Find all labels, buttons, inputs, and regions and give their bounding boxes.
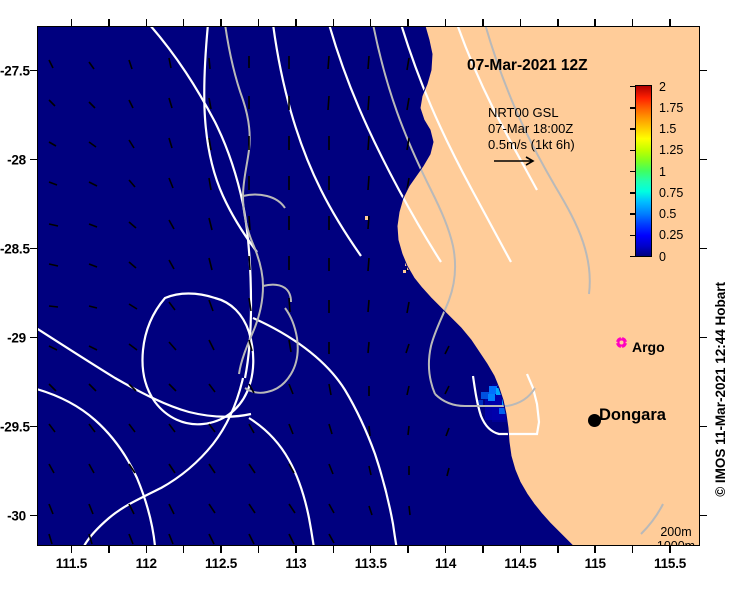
depth-scale-legend: 200m 1000m [647, 525, 700, 546]
x-tick-label: 111.5 [56, 556, 87, 571]
y-tick [30, 248, 37, 250]
x-tick-label: 112 [136, 556, 157, 571]
annotation-line-1: NRT00 GSL [488, 105, 575, 121]
x-tick [482, 546, 484, 553]
colorbar-tick [630, 213, 635, 215]
colorbar-tick-label: 0.75 [659, 186, 683, 200]
x-tick [594, 546, 596, 553]
x-tick [370, 19, 372, 26]
current-reference-annotation: NRT00 GSL 07-Mar 18:00Z 0.5m/s (1kt 6h) [488, 105, 575, 168]
dongara-label: Dongara [599, 406, 666, 425]
x-tick [108, 19, 110, 26]
colorbar-tick [630, 192, 635, 194]
x-tick [108, 546, 110, 553]
colorbar-tick [630, 107, 635, 109]
colorbar-tick-label: 0 [659, 250, 666, 264]
x-tick-label: 114 [435, 556, 456, 571]
colorbar-tick-label: 1.5 [659, 122, 676, 136]
x-tick [557, 19, 559, 26]
x-tick [220, 546, 222, 553]
annotation-line-2: 07-Mar 18:00Z [488, 121, 575, 137]
argo-float-icon [615, 336, 628, 349]
y-tick-label: -28.5 [0, 241, 26, 256]
x-tick-label: 112.5 [205, 556, 237, 571]
copyright-credit: © IMOS 11-Mar-2021 12:44 Hobart [713, 282, 728, 497]
x-tick-label: 115.5 [654, 556, 686, 571]
y-tick [30, 426, 37, 428]
colorbar-gradient [635, 85, 652, 257]
y-tick-label: -30 [0, 508, 26, 523]
y-tick [30, 337, 37, 339]
x-tick [146, 19, 148, 26]
argo-label: Argo [632, 339, 665, 355]
map-date-title: 07-Mar-2021 12Z [467, 57, 588, 75]
y-tick [700, 159, 707, 161]
colorbar-tick [630, 128, 635, 130]
x-tick [370, 546, 372, 553]
x-tick [407, 546, 409, 553]
colorbar-tick-label: 1 [659, 165, 666, 179]
colorbar-tick-label: 2 [659, 80, 666, 94]
scale-label-200m: 200m [647, 525, 700, 539]
x-tick-label: 114.5 [504, 556, 536, 571]
colorbar-tick [630, 256, 635, 258]
x-tick [146, 546, 148, 553]
colorbar-tick [630, 235, 635, 237]
y-tick [700, 337, 707, 339]
map-plot-area: 07-Mar-2021 12Z NRT00 GSL 07-Mar 18:00Z … [37, 26, 700, 546]
x-tick [632, 19, 634, 26]
x-tick [183, 19, 185, 26]
sst-age-map-figure: 07-Mar-2021 12Z NRT00 GSL 07-Mar 18:00Z … [0, 0, 739, 592]
x-tick [183, 546, 185, 553]
colorbar-tick [630, 171, 635, 173]
x-tick [632, 546, 634, 553]
y-tick [700, 248, 707, 250]
x-tick [220, 19, 222, 26]
x-tick [594, 19, 596, 26]
x-tick [333, 19, 335, 26]
y-tick [30, 159, 37, 161]
x-tick [520, 546, 522, 553]
colorbar-tick-label: 0.5 [659, 207, 676, 221]
x-tick [445, 546, 447, 553]
y-tick [700, 515, 707, 517]
x-tick [295, 19, 297, 26]
x-tick [445, 19, 447, 26]
scale-label-1000m: 1000m [647, 539, 700, 546]
x-tick-label: 113 [285, 556, 306, 571]
x-tick [258, 19, 260, 26]
y-tick [30, 70, 37, 72]
x-tick-label: 115 [585, 556, 606, 571]
y-tick [700, 70, 707, 72]
colorbar-tick [630, 150, 635, 152]
colorbar-tick-label: 1.75 [659, 101, 683, 115]
x-tick [407, 19, 409, 26]
y-tick-label: -29 [0, 330, 26, 345]
x-tick [669, 19, 671, 26]
x-tick [295, 546, 297, 553]
x-tick [482, 19, 484, 26]
x-tick [71, 19, 73, 26]
x-tick [520, 19, 522, 26]
y-tick-label: -27.5 [0, 63, 26, 78]
colorbar-tick-label: 0.25 [659, 228, 683, 242]
colorbar-tick-label: 1.25 [659, 143, 683, 157]
x-tick [258, 546, 260, 553]
x-tick [557, 546, 559, 553]
colorbar-tick [630, 86, 635, 88]
y-tick-label: -29.5 [0, 419, 26, 434]
x-tick [669, 546, 671, 553]
x-tick [71, 546, 73, 553]
ocean-layer [37, 26, 700, 546]
y-tick [700, 426, 707, 428]
annotation-line-3: 0.5m/s (1kt 6h) [488, 137, 575, 153]
reference-arrow-icon [488, 154, 548, 168]
x-tick [333, 546, 335, 553]
x-tick-label: 113.5 [355, 556, 387, 571]
y-tick-label: -28 [0, 152, 26, 167]
y-tick [30, 515, 37, 517]
